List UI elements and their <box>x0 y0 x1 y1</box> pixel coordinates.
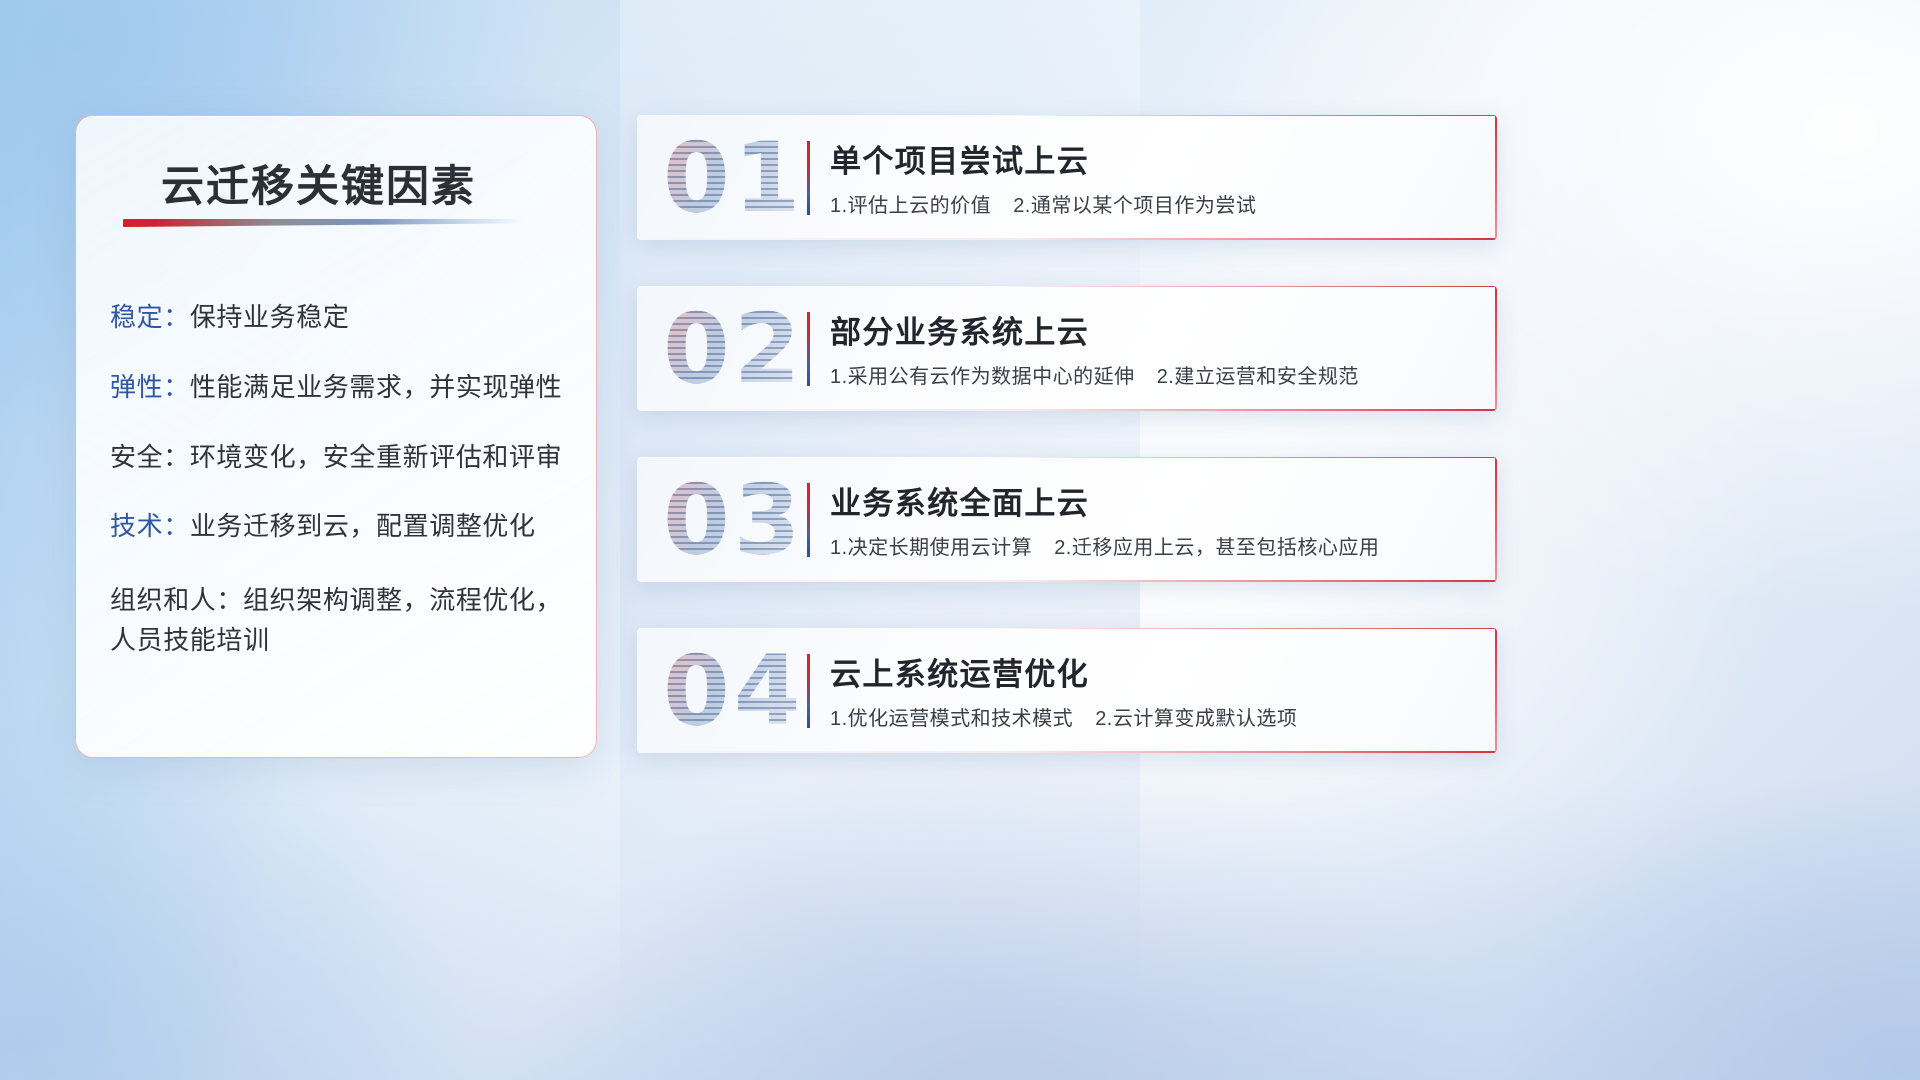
list-item-label: 技术： <box>110 511 190 541</box>
list-item-text: 业务迁移到云，配置调整优化 <box>190 511 536 541</box>
stage-card-04[interactable]: 04 云上系统运营优化 1.优化运营模式和技术模式2.云计算变成默认选项 <box>637 628 1497 753</box>
key-factors-panel: 云迁移关键因素 稳定：保持业务稳定 弹性：性能满足业务需求，并实现弹性 安全：环… <box>75 115 597 758</box>
list-item: 安全：环境变化，安全重新评估和评审 <box>110 441 572 475</box>
accent-bar <box>807 141 810 215</box>
stage-title: 单个项目尝试上云 <box>830 136 1089 181</box>
list-item: 组织和人：组织架构调整，流程优化，人员技能培训 <box>110 580 572 661</box>
stage-card-01[interactable]: 01 单个项目尝试上云 1.评估上云的价值2.通常以某个项目作为尝试 <box>637 115 1497 240</box>
card-underline <box>637 751 1497 753</box>
list-item-label: 弹性： <box>110 372 190 402</box>
stage-point-1: 1.决定长期使用云计算 <box>830 537 1032 559</box>
accent-bar <box>807 483 810 557</box>
stage-point-2: 2.通常以某个项目作为尝试 <box>1013 195 1256 217</box>
stage-point-1: 1.优化运营模式和技术模式 <box>830 708 1073 730</box>
stage-point-2: 2.云计算变成默认选项 <box>1095 708 1297 730</box>
list-item-text: 保持业务稳定 <box>190 302 350 332</box>
list-item: 稳定：保持业务稳定 <box>110 301 572 335</box>
card-underline <box>637 409 1497 411</box>
key-factors-list: 稳定：保持业务稳定 弹性：性能满足业务需求，并实现弹性 安全：环境变化，安全重新… <box>110 301 572 697</box>
stage-title: 业务系统全面上云 <box>830 478 1089 523</box>
panel-title: 云迁移关键因素 <box>161 152 476 214</box>
slide-stage: 云迁移关键因素 稳定：保持业务稳定 弹性：性能满足业务需求，并实现弹性 安全：环… <box>0 0 1920 1080</box>
stage-point-2: 2.建立运营和安全规范 <box>1157 366 1359 388</box>
stage-title: 云上系统运营优化 <box>830 649 1089 694</box>
stage-number: 04 <box>663 643 805 739</box>
title-underline-rule <box>123 219 523 227</box>
list-item-text: 性能满足业务需求，并实现弹性 <box>190 372 562 402</box>
list-item: 弹性：性能满足业务需求，并实现弹性 <box>110 371 572 405</box>
stage-number: 01 <box>663 130 805 226</box>
stage-subtitle: 1.优化运营模式和技术模式2.云计算变成默认选项 <box>830 702 1297 731</box>
accent-bar <box>807 312 810 386</box>
stage-point-1: 1.评估上云的价值 <box>830 195 991 217</box>
list-item-label: 组织和人： <box>110 585 243 615</box>
stage-subtitle: 1.采用公有云作为数据中心的延伸2.建立运营和安全规范 <box>830 360 1359 389</box>
stage-number: 02 <box>663 301 805 397</box>
stage-card-03[interactable]: 03 业务系统全面上云 1.决定长期使用云计算2.迁移应用上云，甚至包括核心应用 <box>637 457 1497 582</box>
card-underline <box>637 580 1497 582</box>
stage-point-1: 1.采用公有云作为数据中心的延伸 <box>830 366 1135 388</box>
stage-title: 部分业务系统上云 <box>830 307 1089 352</box>
list-item-label: 安全： <box>110 442 190 472</box>
stage-subtitle: 1.决定长期使用云计算2.迁移应用上云，甚至包括核心应用 <box>830 531 1379 560</box>
stage-number: 03 <box>663 472 805 568</box>
stage-point-2: 2.迁移应用上云，甚至包括核心应用 <box>1054 537 1379 559</box>
list-item-label: 稳定： <box>110 302 190 332</box>
list-item-text: 环境变化，安全重新评估和评审 <box>190 442 562 472</box>
card-underline <box>637 238 1497 240</box>
list-item: 技术：业务迁移到云，配置调整优化 <box>110 510 572 544</box>
accent-bar <box>807 654 810 728</box>
stage-subtitle: 1.评估上云的价值2.通常以某个项目作为尝试 <box>830 189 1256 218</box>
stage-card-02[interactable]: 02 部分业务系统上云 1.采用公有云作为数据中心的延伸2.建立运营和安全规范 <box>637 286 1497 411</box>
